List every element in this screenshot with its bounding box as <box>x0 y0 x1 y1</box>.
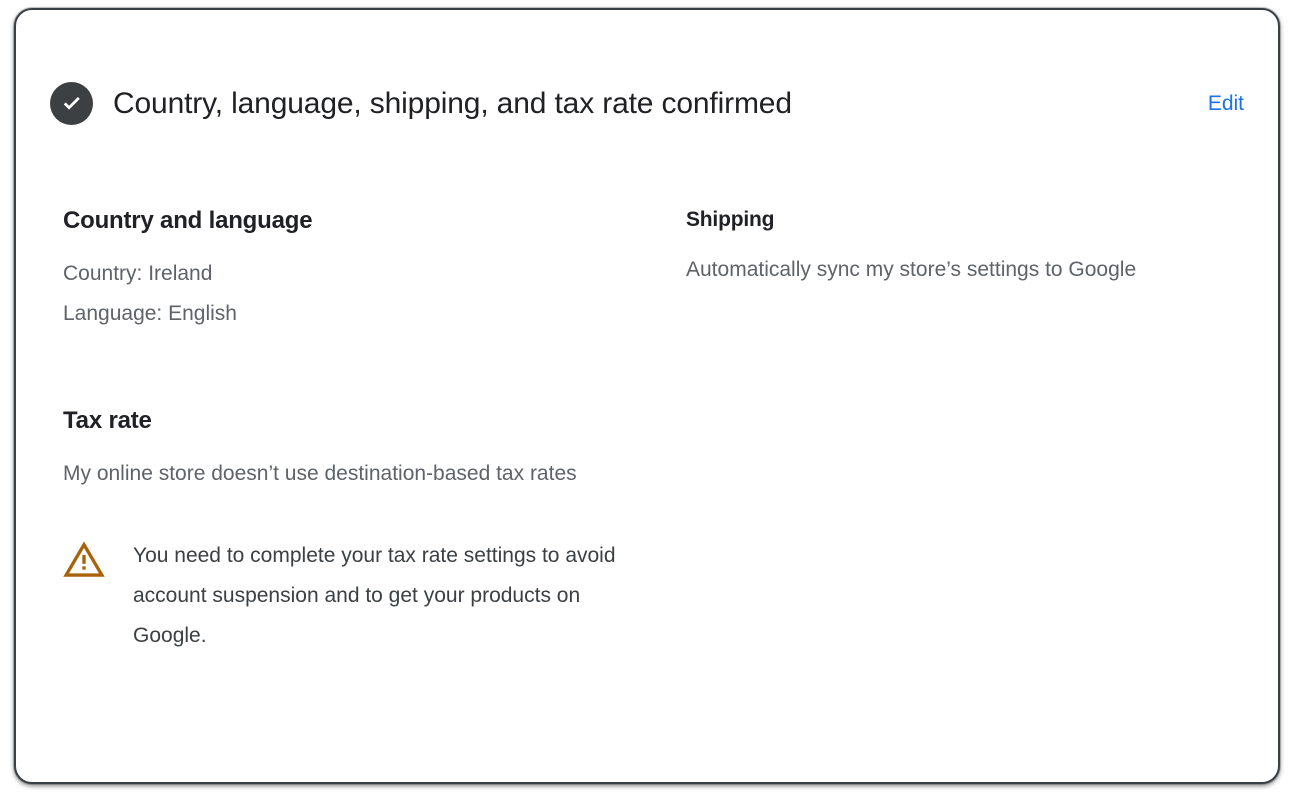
tax-rate-heading: Tax rate <box>63 406 663 436</box>
language-value: Language: English <box>63 302 237 325</box>
right-column: Shipping Automatically sync my store’s s… <box>686 206 1246 290</box>
card-body: Country and language Country: Ireland La… <box>63 206 1238 656</box>
confirmation-card: Country, language, shipping, and tax rat… <box>14 8 1280 784</box>
card-header: Country, language, shipping, and tax rat… <box>50 82 1244 125</box>
warning-message: You need to complete your tax rate setti… <box>133 536 623 656</box>
tax-rate-warning: You need to complete your tax rate setti… <box>63 536 663 656</box>
section-tax-rate: Tax rate My online store doesn’t use des… <box>63 406 663 656</box>
edit-button[interactable]: Edit <box>1192 90 1244 118</box>
card-inner: Country, language, shipping, and tax rat… <box>16 10 1278 782</box>
left-column: Country and language Country: Ireland La… <box>63 206 663 656</box>
section-country-language: Country and language Country: Ireland La… <box>63 206 663 334</box>
tax-rate-value: My online store doesn’t use destination-… <box>63 454 583 494</box>
country-language-values: Country: Ireland Language: English <box>63 254 603 334</box>
country-language-heading: Country and language <box>63 206 663 236</box>
shipping-heading: Shipping <box>686 206 1246 233</box>
page-title: Country, language, shipping, and tax rat… <box>113 85 1192 123</box>
warning-triangle-icon <box>63 539 105 581</box>
country-value: Country: Ireland <box>63 262 212 285</box>
page-root: Country, language, shipping, and tax rat… <box>0 0 1296 800</box>
shipping-value: Automatically sync my store’s settings t… <box>686 250 1221 290</box>
check-circle-icon <box>50 82 93 125</box>
section-shipping: Shipping Automatically sync my store’s s… <box>686 206 1246 290</box>
